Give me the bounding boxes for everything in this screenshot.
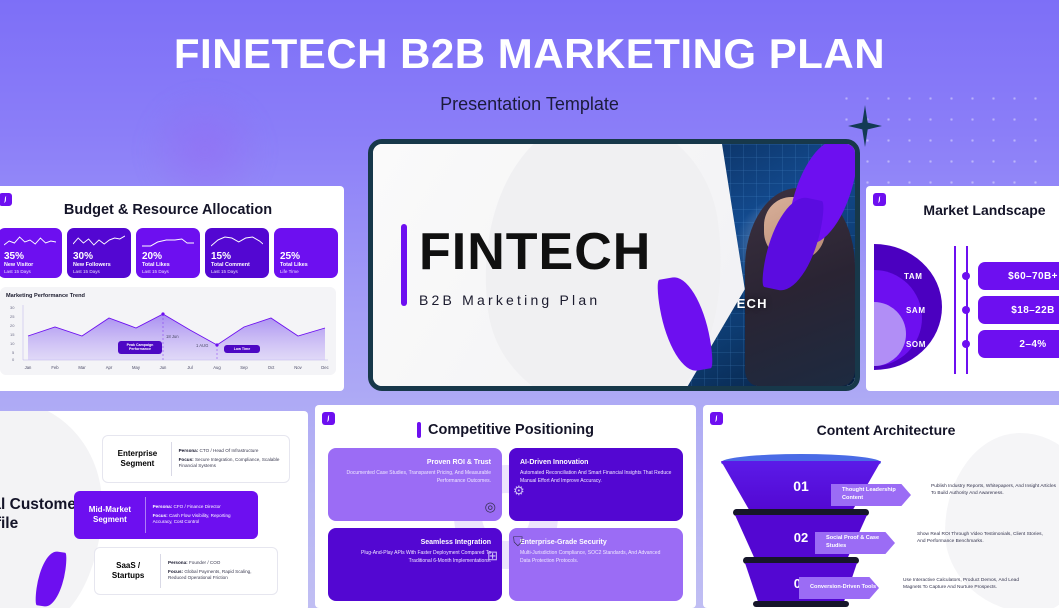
ideal-customer-profile-slide[interactable]: Ideal Customer Profile Enterprise Segmen… bbox=[0, 411, 308, 608]
focus-value: Secure Integration, Compliance, Scalable… bbox=[179, 457, 280, 469]
svg-text:10: 10 bbox=[10, 341, 15, 346]
stat-sub: Last 15 Days bbox=[142, 269, 194, 275]
divider bbox=[160, 554, 161, 588]
spine-line-1 bbox=[954, 246, 956, 374]
stat-percent: 15% bbox=[211, 251, 263, 262]
hero-subtitle: B2B Marketing Plan bbox=[419, 292, 600, 308]
persona-label: Persona: bbox=[179, 448, 199, 453]
segment-body: Persona: CTO / Head Of Infrastructure Fo… bbox=[179, 448, 281, 470]
tam-node bbox=[962, 272, 970, 280]
som-node bbox=[962, 340, 970, 348]
shield-lock-icon: ⛉ bbox=[513, 534, 523, 550]
market-diagram: TAM SAM SOM $60–70B+ $18–22B 2–4% bbox=[866, 226, 1059, 376]
competitive-positioning-slide[interactable]: Competitive Positioning Proven ROI & Tru… bbox=[315, 405, 696, 608]
segment-name: Mid-Market Segment bbox=[82, 505, 138, 526]
divider bbox=[145, 497, 146, 533]
funnel-ring-2 bbox=[743, 557, 859, 564]
market-title: Market Landscape bbox=[866, 202, 1059, 218]
trend-chart-title: Marketing Performance Trend bbox=[6, 293, 330, 299]
svg-text:Jan: Jan bbox=[25, 365, 32, 370]
persona-label: Persona: bbox=[153, 504, 173, 509]
card-body: Multi-Jurisdiction Compliance, SOC2 Stan… bbox=[520, 550, 672, 565]
svg-text:Oct: Oct bbox=[268, 365, 275, 370]
stage-label-02[interactable]: Social Proof & Case Studies bbox=[815, 532, 895, 554]
page-subtitle: Presentation Template bbox=[0, 94, 1059, 115]
svg-text:Apr: Apr bbox=[106, 365, 113, 370]
funnel-ring-1 bbox=[733, 509, 869, 516]
competitive-card-roi[interactable]: Proven ROI & Trust Documented Case Studi… bbox=[328, 448, 502, 521]
logo-badge bbox=[710, 412, 723, 425]
sam-label: SAM bbox=[906, 306, 926, 315]
competitive-card-integration[interactable]: Seamless Integration Plug-And-Play APIs … bbox=[328, 528, 502, 601]
low-annotation-tag: Low Time bbox=[224, 345, 260, 353]
card-heading: Seamless Integration bbox=[339, 538, 491, 547]
segment-card-saas[interactable]: SaaS / Startups Persona: Founder / COO F… bbox=[94, 547, 278, 595]
segment-name: Enterprise Segment bbox=[111, 449, 164, 470]
trend-chart-panel: Marketing Performance Trend 302520 15105… bbox=[0, 287, 336, 375]
stat-percent: 35% bbox=[4, 251, 56, 262]
svg-text:Feb: Feb bbox=[51, 365, 59, 370]
svg-text:Nov: Nov bbox=[294, 365, 302, 370]
competitive-card-security[interactable]: Enterprise-Grade Security Multi-Jurisdic… bbox=[509, 528, 683, 601]
stat-card-row: 35% New Visitor Last 15 Days 30% New Fol… bbox=[0, 218, 344, 278]
gear-ai-icon: ⚙ bbox=[513, 483, 525, 499]
svg-text:Sep: Sep bbox=[240, 365, 248, 370]
stat-sub: Life Time bbox=[280, 269, 332, 275]
page-header: FINETECH B2B MARKETING PLAN Presentation… bbox=[0, 0, 1059, 140]
stat-card[interactable]: 20% Total Likes Last 15 Days bbox=[136, 228, 200, 278]
svg-text:5: 5 bbox=[12, 350, 15, 355]
stage-desc-03: Use Interactive Calculators, Product Dem… bbox=[903, 577, 1031, 592]
stage-label-01[interactable]: Thought Leadership Content bbox=[831, 484, 911, 506]
stage-desc-02: Show Real ROI Through Video Testimonials… bbox=[917, 531, 1045, 546]
stat-card[interactable]: 15% Total Comment Last 15 Days bbox=[205, 228, 269, 278]
stage-label-03[interactable]: Conversion-Driven Tools bbox=[799, 577, 879, 599]
competitive-header: Competitive Positioning bbox=[315, 422, 696, 438]
card-body: Documented Case Studies, Transparent Pri… bbox=[339, 470, 491, 485]
svg-text:0: 0 bbox=[12, 357, 15, 362]
persona-value: CFO / Finance Director bbox=[172, 504, 221, 509]
svg-text:20: 20 bbox=[10, 323, 15, 328]
card-heading: Enterprise-Grade Security bbox=[520, 538, 672, 547]
svg-text:Mar: Mar bbox=[78, 365, 86, 370]
stat-sub: Last 15 Days bbox=[211, 269, 263, 275]
segment-card-enterprise[interactable]: Enterprise Segment Persona: CTO / Head O… bbox=[102, 435, 290, 483]
stat-sub: Last 15 Days bbox=[73, 269, 125, 275]
divider bbox=[171, 442, 172, 476]
svg-text:Jul: Jul bbox=[187, 365, 192, 370]
hero-title: FINTECH bbox=[419, 226, 651, 278]
funnel-ring-3 bbox=[753, 601, 849, 607]
market-landscape-slide[interactable]: Market Landscape TAM SAM SOM $60–70B+ $1… bbox=[866, 186, 1059, 391]
stat-label: Total Comment bbox=[211, 262, 263, 269]
segment-body: Persona: CFO / Finance Director Focus: C… bbox=[153, 504, 250, 526]
sam-node bbox=[962, 306, 970, 314]
segment-name: SaaS / Startups bbox=[103, 561, 153, 582]
som-value-pill[interactable]: 2–4% bbox=[978, 330, 1059, 358]
persona-value: CTO / Head Of Infrastructure bbox=[198, 448, 258, 453]
card-body: Plug-And-Play APIs With Faster Deploymen… bbox=[339, 550, 491, 565]
svg-text:Dec: Dec bbox=[321, 365, 328, 370]
hero-slide[interactable]: FINTECH B2B Marketing Plan FINTECH bbox=[368, 139, 860, 391]
card-body: Automated Reconciliation And Smart Finan… bbox=[520, 470, 672, 485]
tam-label: TAM bbox=[904, 272, 923, 281]
stat-label: Total Likes bbox=[280, 262, 332, 269]
peak-annotation-tag: Peak Campaign Performance bbox=[118, 341, 162, 354]
stat-percent: 30% bbox=[73, 251, 125, 262]
competitive-card-grid: Proven ROI & Trust Documented Case Studi… bbox=[315, 438, 696, 601]
svg-text:30: 30 bbox=[10, 305, 15, 310]
segment-card-midmarket[interactable]: Mid-Market Segment Persona: CFO / Financ… bbox=[74, 491, 258, 539]
competitive-title: Competitive Positioning bbox=[428, 422, 594, 438]
stage-desc-01: Publish Industry Reports, Whitepapers, A… bbox=[931, 483, 1059, 498]
budget-slide[interactable]: Budget & Resource Allocation 35% New Vis… bbox=[0, 186, 344, 391]
stat-card[interactable]: 35% New Visitor Last 15 Days bbox=[0, 228, 62, 278]
content-architecture-slide[interactable]: Content Architecture 01 02 03 Thought Le… bbox=[703, 405, 1059, 608]
stat-card[interactable]: 30% New Followers Last 15 Days bbox=[67, 228, 131, 278]
persona-value: Founder / COO bbox=[188, 560, 221, 565]
stat-card[interactable]: 25% Total Likes Life Time bbox=[274, 228, 338, 278]
peak-date-note: 18 Jun bbox=[166, 334, 179, 339]
stat-percent: 25% bbox=[280, 251, 332, 262]
stat-label: New Visitor bbox=[4, 262, 56, 269]
persona-label: Persona: bbox=[168, 560, 188, 565]
accent-bar bbox=[417, 422, 421, 438]
som-label: SOM bbox=[906, 340, 926, 349]
stat-sub: Last 15 Days bbox=[4, 269, 56, 275]
logo-badge bbox=[873, 193, 886, 206]
svg-text:Aug: Aug bbox=[213, 365, 221, 370]
tam-value-pill[interactable]: $60–70B+ bbox=[978, 262, 1059, 290]
page-title: FINETECH B2B MARKETING PLAN bbox=[0, 0, 1059, 75]
svg-text:25: 25 bbox=[10, 314, 15, 319]
card-heading: AI-Driven Innovation bbox=[520, 458, 672, 467]
coins-icon: ◎ bbox=[485, 499, 496, 515]
sam-value-pill[interactable]: $18–22B bbox=[978, 296, 1059, 324]
competitive-card-ai[interactable]: AI-Driven Innovation Automated Reconcili… bbox=[509, 448, 683, 521]
area-chart: 302520 15105 0 bbox=[6, 301, 330, 373]
stat-label: New Followers bbox=[73, 262, 125, 269]
svg-text:Jun: Jun bbox=[160, 365, 167, 370]
svg-text:May: May bbox=[132, 365, 141, 370]
logo-badge bbox=[0, 193, 12, 206]
hero-accent-bar bbox=[401, 224, 407, 306]
svg-text:15: 15 bbox=[10, 332, 15, 337]
focus-label: Focus: bbox=[179, 457, 194, 462]
logo-badge bbox=[322, 412, 335, 425]
budget-title: Budget & Resource Allocation bbox=[0, 202, 344, 218]
focus-label: Focus: bbox=[168, 569, 183, 574]
low-date-note: 1 AUG bbox=[196, 343, 208, 348]
segment-body: Persona: Founder / COO Focus: Global Pay… bbox=[168, 560, 269, 582]
stat-label: Total Likes bbox=[142, 262, 194, 269]
stat-percent: 20% bbox=[142, 251, 194, 262]
plug-icon: ⊞ bbox=[487, 548, 498, 564]
card-heading: Proven ROI & Trust bbox=[339, 458, 491, 467]
focus-label: Focus: bbox=[153, 513, 168, 518]
